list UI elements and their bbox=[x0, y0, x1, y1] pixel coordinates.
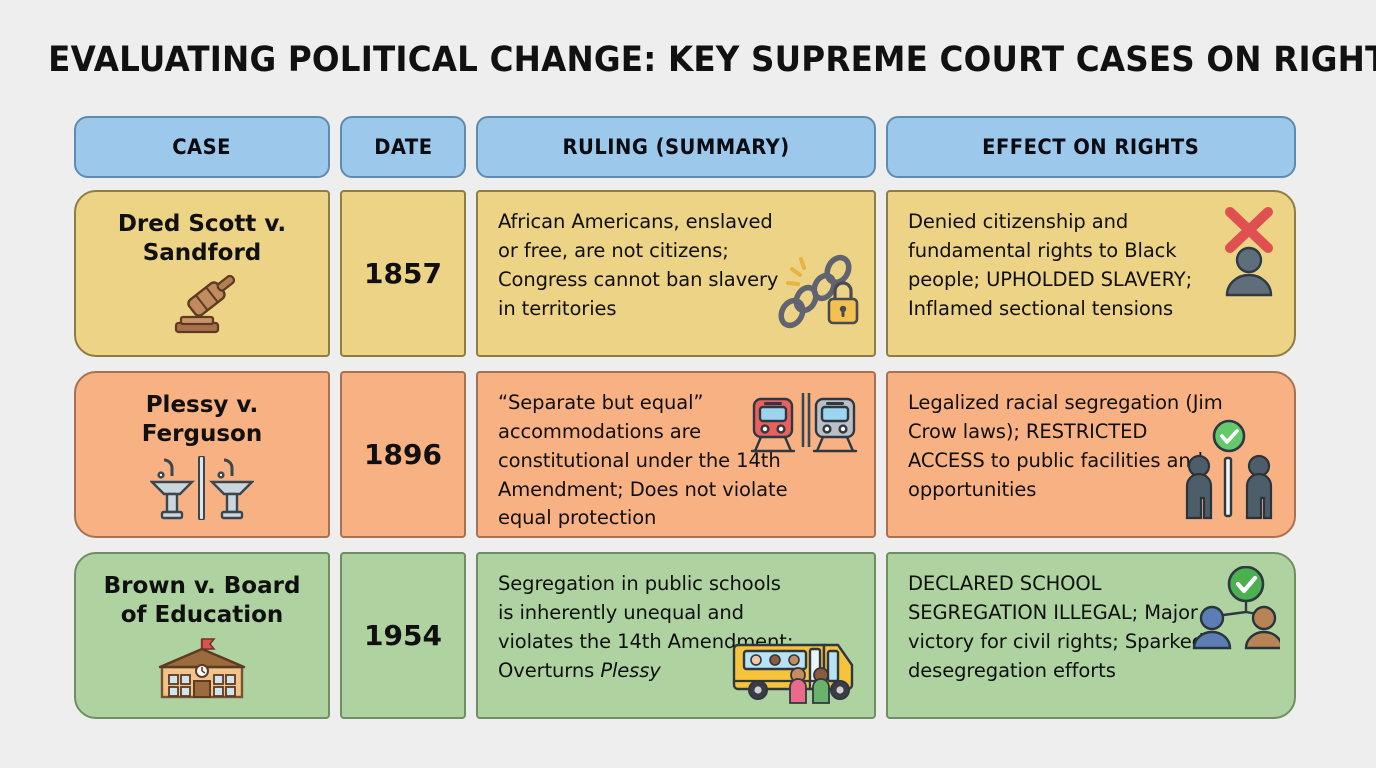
segregated-fountains-icon bbox=[150, 456, 254, 520]
gavel-icon bbox=[162, 275, 242, 337]
separate-trains-icon bbox=[750, 391, 858, 457]
cases-table: CASE DATE RULING (SUMMARY) EFFECT ON RIG… bbox=[74, 116, 1302, 733]
separated-people-check-icon bbox=[1180, 418, 1278, 522]
date-value: 1857 bbox=[364, 257, 442, 290]
infographic-table-page: EVALUATING POLITICAL CHANGE: KEY SUPREME… bbox=[0, 0, 1376, 768]
table-row: Plessy v. Ferguson bbox=[74, 371, 1302, 538]
cell-ruling-brown: Segregation in public schools is inheren… bbox=[476, 552, 876, 719]
header-label-date: DATE bbox=[374, 135, 432, 159]
school-building-icon bbox=[156, 637, 248, 699]
ruling-text: African Americans, enslaved or free, are… bbox=[498, 208, 798, 323]
header-label-effect: EFFECT ON RIGHTS bbox=[982, 135, 1199, 159]
cell-effect-brown: DECLARED SCHOOL SEGREGATION ILLEGAL; Maj… bbox=[886, 552, 1296, 719]
header-label-ruling: RULING (SUMMARY) bbox=[562, 135, 789, 159]
person-denied-x-icon bbox=[1216, 202, 1282, 298]
cell-effect-dred-scott: Denied citizenship and fundamental right… bbox=[886, 190, 1296, 357]
date-value: 1954 bbox=[364, 619, 442, 652]
cell-case-brown: Brown v. Board of Education bbox=[74, 552, 330, 719]
cell-case-dred-scott: Dred Scott v. Sandford bbox=[74, 190, 330, 357]
cell-effect-plessy: Legalized racial segregation (Jim Crow l… bbox=[886, 371, 1296, 538]
effect-text: Legalized racial segregation (Jim Crow l… bbox=[908, 389, 1226, 504]
header-cell-ruling: RULING (SUMMARY) bbox=[476, 116, 876, 178]
effect-text: Denied citizenship and fundamental right… bbox=[908, 208, 1226, 323]
cell-case-plessy: Plessy v. Ferguson bbox=[74, 371, 330, 538]
header-cell-effect: EFFECT ON RIGHTS bbox=[886, 116, 1296, 178]
case-name: Brown v. Board of Education bbox=[88, 572, 316, 631]
date-value: 1896 bbox=[364, 438, 442, 471]
header-cell-case: CASE bbox=[74, 116, 330, 178]
table-header-row: CASE DATE RULING (SUMMARY) EFFECT ON RIG… bbox=[74, 116, 1302, 178]
cell-ruling-dred-scott: African Americans, enslaved or free, are… bbox=[476, 190, 876, 357]
case-name: Plessy v. Ferguson bbox=[88, 391, 316, 450]
cell-date-1857: 1857 bbox=[340, 190, 466, 357]
cell-ruling-plessy: “Separate but equal” accommodations are … bbox=[476, 371, 876, 538]
header-label-case: CASE bbox=[173, 135, 232, 159]
page-title: EVALUATING POLITICAL CHANGE: KEY SUPREME… bbox=[48, 40, 1328, 80]
cell-date-1954: 1954 bbox=[340, 552, 466, 719]
united-people-check-icon bbox=[1188, 566, 1280, 650]
case-name: Dred Scott v. Sandford bbox=[88, 210, 316, 269]
cell-date-1896: 1896 bbox=[340, 371, 466, 538]
effect-text: DECLARED SCHOOL SEGREGATION ILLEGAL; Maj… bbox=[908, 570, 1226, 685]
broken-chain-lock-icon bbox=[772, 251, 864, 331]
table-row: Dred Scott v. Sandford bbox=[74, 190, 1302, 357]
school-bus-children-icon bbox=[732, 629, 858, 705]
header-cell-date: DATE bbox=[340, 116, 466, 178]
table-row: Brown v. Board of Education bbox=[74, 552, 1302, 719]
ruling-text-italic: Plessy bbox=[600, 659, 660, 682]
